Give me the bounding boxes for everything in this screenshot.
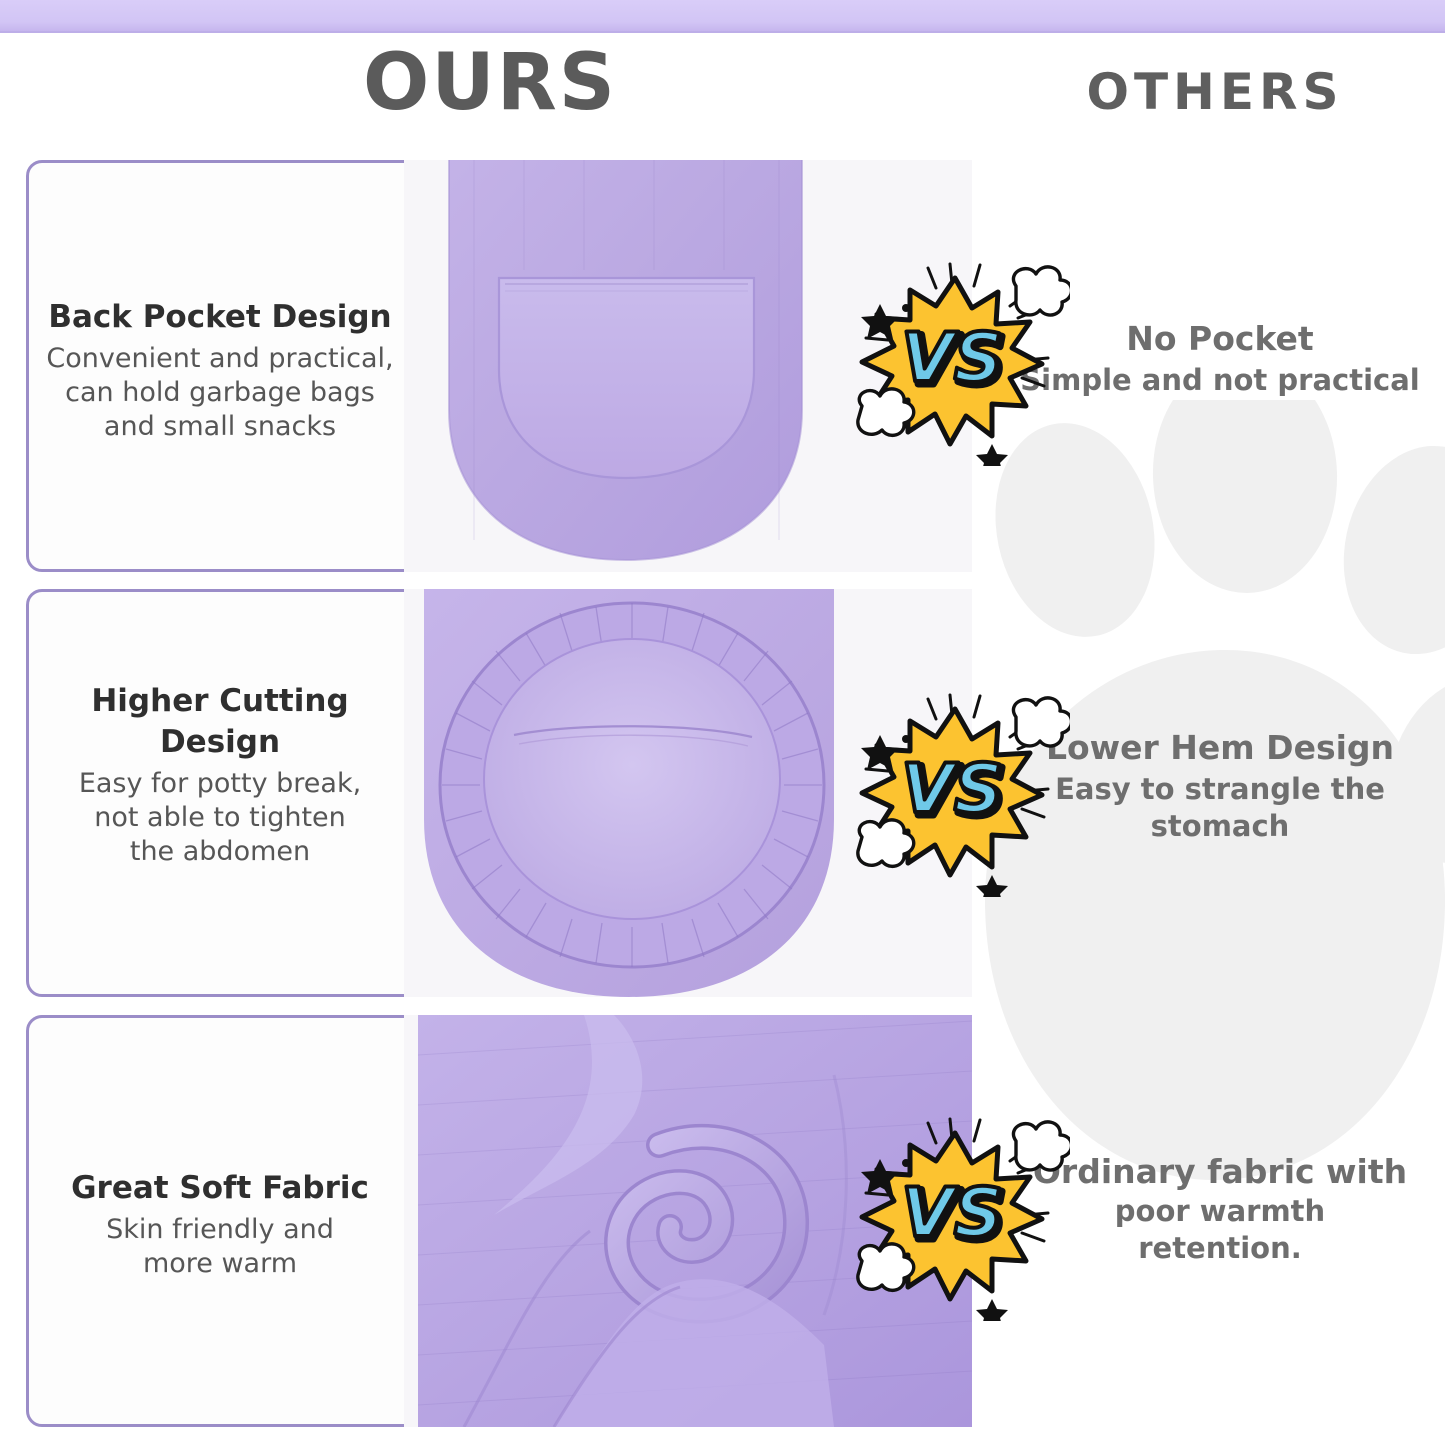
- others-title-3: Ordinary fabric with: [1010, 1151, 1430, 1193]
- vs-label-2: VS: [901, 750, 1003, 829]
- ours-feature-3: Great Soft Fabric Skin friendly andmore …: [34, 1168, 406, 1281]
- others-feature-1: No Pocket Simple and not practical: [1010, 318, 1430, 399]
- comparison-row-1: Back Pocket Design Convenient and practi…: [0, 160, 1445, 572]
- comparison-infographic: OURS OTHERS: [0, 0, 1445, 1445]
- cloud-puff-top-3: [1013, 1122, 1070, 1170]
- comparison-row-2: Higher CuttingDesign Easy for potty brea…: [0, 589, 1445, 997]
- ours-desc-2: Easy for potty break,not able to tighten…: [34, 767, 406, 869]
- others-title-2: Lower Hem Design: [1010, 727, 1430, 769]
- ours-feature-1: Back Pocket Design Convenient and practi…: [34, 297, 406, 444]
- others-desc-3: poor warmthretention.: [1010, 1193, 1430, 1267]
- ours-desc-3: Skin friendly andmore warm: [34, 1213, 406, 1281]
- ours-title-1: Back Pocket Design: [34, 297, 406, 338]
- ours-title-2: Higher CuttingDesign: [34, 681, 406, 763]
- headings: OURS OTHERS: [0, 44, 1445, 144]
- cloud-puff-top-2: [1013, 698, 1070, 746]
- top-accent-bar: [0, 0, 1445, 33]
- others-title-1: No Pocket: [1010, 318, 1430, 360]
- vs-label-3: VS: [901, 1174, 1003, 1253]
- others-feature-3: Ordinary fabric with poor warmthretentio…: [1010, 1151, 1430, 1267]
- ours-feature-2: Higher CuttingDesign Easy for potty brea…: [34, 681, 406, 869]
- vs-burst-badge-2: VS VS: [840, 687, 1070, 897]
- vs-burst-badge-1: VS VS: [840, 256, 1070, 466]
- cloud-puff-top-1: [1013, 267, 1070, 315]
- ours-title-3: Great Soft Fabric: [34, 1168, 406, 1209]
- vs-label-1: VS: [901, 319, 1003, 398]
- others-desc-2: Easy to strangle thestomach: [1010, 771, 1430, 845]
- comparison-row-3: Great Soft Fabric Skin friendly andmore …: [0, 1015, 1445, 1427]
- vs-burst-badge-3: VS VS: [840, 1111, 1070, 1321]
- others-feature-2: Lower Hem Design Easy to strangle thesto…: [1010, 727, 1430, 845]
- ours-desc-1: Convenient and practical,can hold garbag…: [34, 342, 406, 444]
- others-desc-1: Simple and not practical: [1010, 362, 1430, 399]
- heading-ours: OURS: [150, 44, 830, 122]
- heading-others: OTHERS: [1000, 66, 1430, 118]
